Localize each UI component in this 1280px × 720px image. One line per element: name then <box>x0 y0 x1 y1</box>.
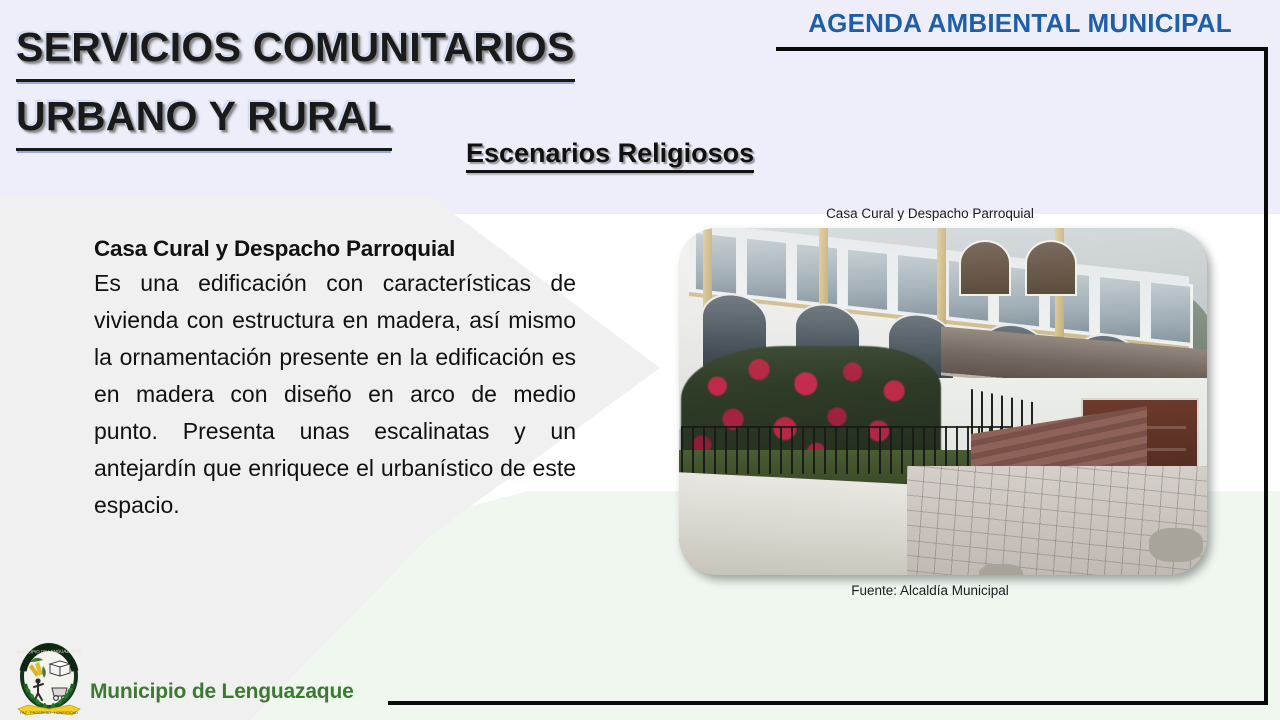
content-heading: Casa Cural y Despacho Parroquial <box>94 236 576 262</box>
agenda-header-title: AGENDA AMBIENTAL MUNICIPAL <box>770 8 1270 39</box>
frame-right-line <box>1264 47 1268 705</box>
frame-top-line <box>776 47 1268 51</box>
slide-canvas: AGENDA AMBIENTAL MUNICIPAL SERVICIOS COM… <box>0 0 1280 720</box>
svg-text:MUNICIPIO DE LENGUAZAQUE: MUNICIPIO DE LENGUAZAQUE <box>16 648 81 654</box>
section-subtitle: Escenarios Religiosos <box>466 138 754 173</box>
photo-pavement-patch-1 <box>1149 528 1203 562</box>
photo-casa-cural <box>679 228 1207 575</box>
page-title: SERVICIOS COMUNITARIOS URBANO Y RURAL <box>16 18 656 156</box>
footer-municipality-label: Municipio de Lenguazaque <box>90 680 354 704</box>
frame-bottom-line <box>388 701 1268 705</box>
page-title-line-1: SERVICIOS COMUNITARIOS <box>16 18 575 82</box>
photo-lower-arch-2 <box>1025 240 1077 296</box>
page-title-line-2: URBANO Y RURAL <box>16 87 392 151</box>
escudo-municipal-icon: MUNICIPIO DE LENGUAZAQUE <box>12 640 86 718</box>
photo-lower-arch-1 <box>959 240 1011 296</box>
svg-text:PAZ · PROGRESO · HONESTIDAD: PAZ · PROGRESO · HONESTIDAD <box>20 711 78 715</box>
photo-caption-top: Casa Cural y Despacho Parroquial <box>700 206 1160 221</box>
photo-inner <box>679 228 1207 575</box>
photo-pavement-patch-2 <box>979 564 1023 575</box>
content-paragraph: Es una edificación con características d… <box>94 265 576 561</box>
photo-caption-source: Fuente: Alcaldía Municipal <box>700 583 1160 598</box>
content-text-block: Casa Cural y Despacho Parroquial Es una … <box>94 236 576 561</box>
